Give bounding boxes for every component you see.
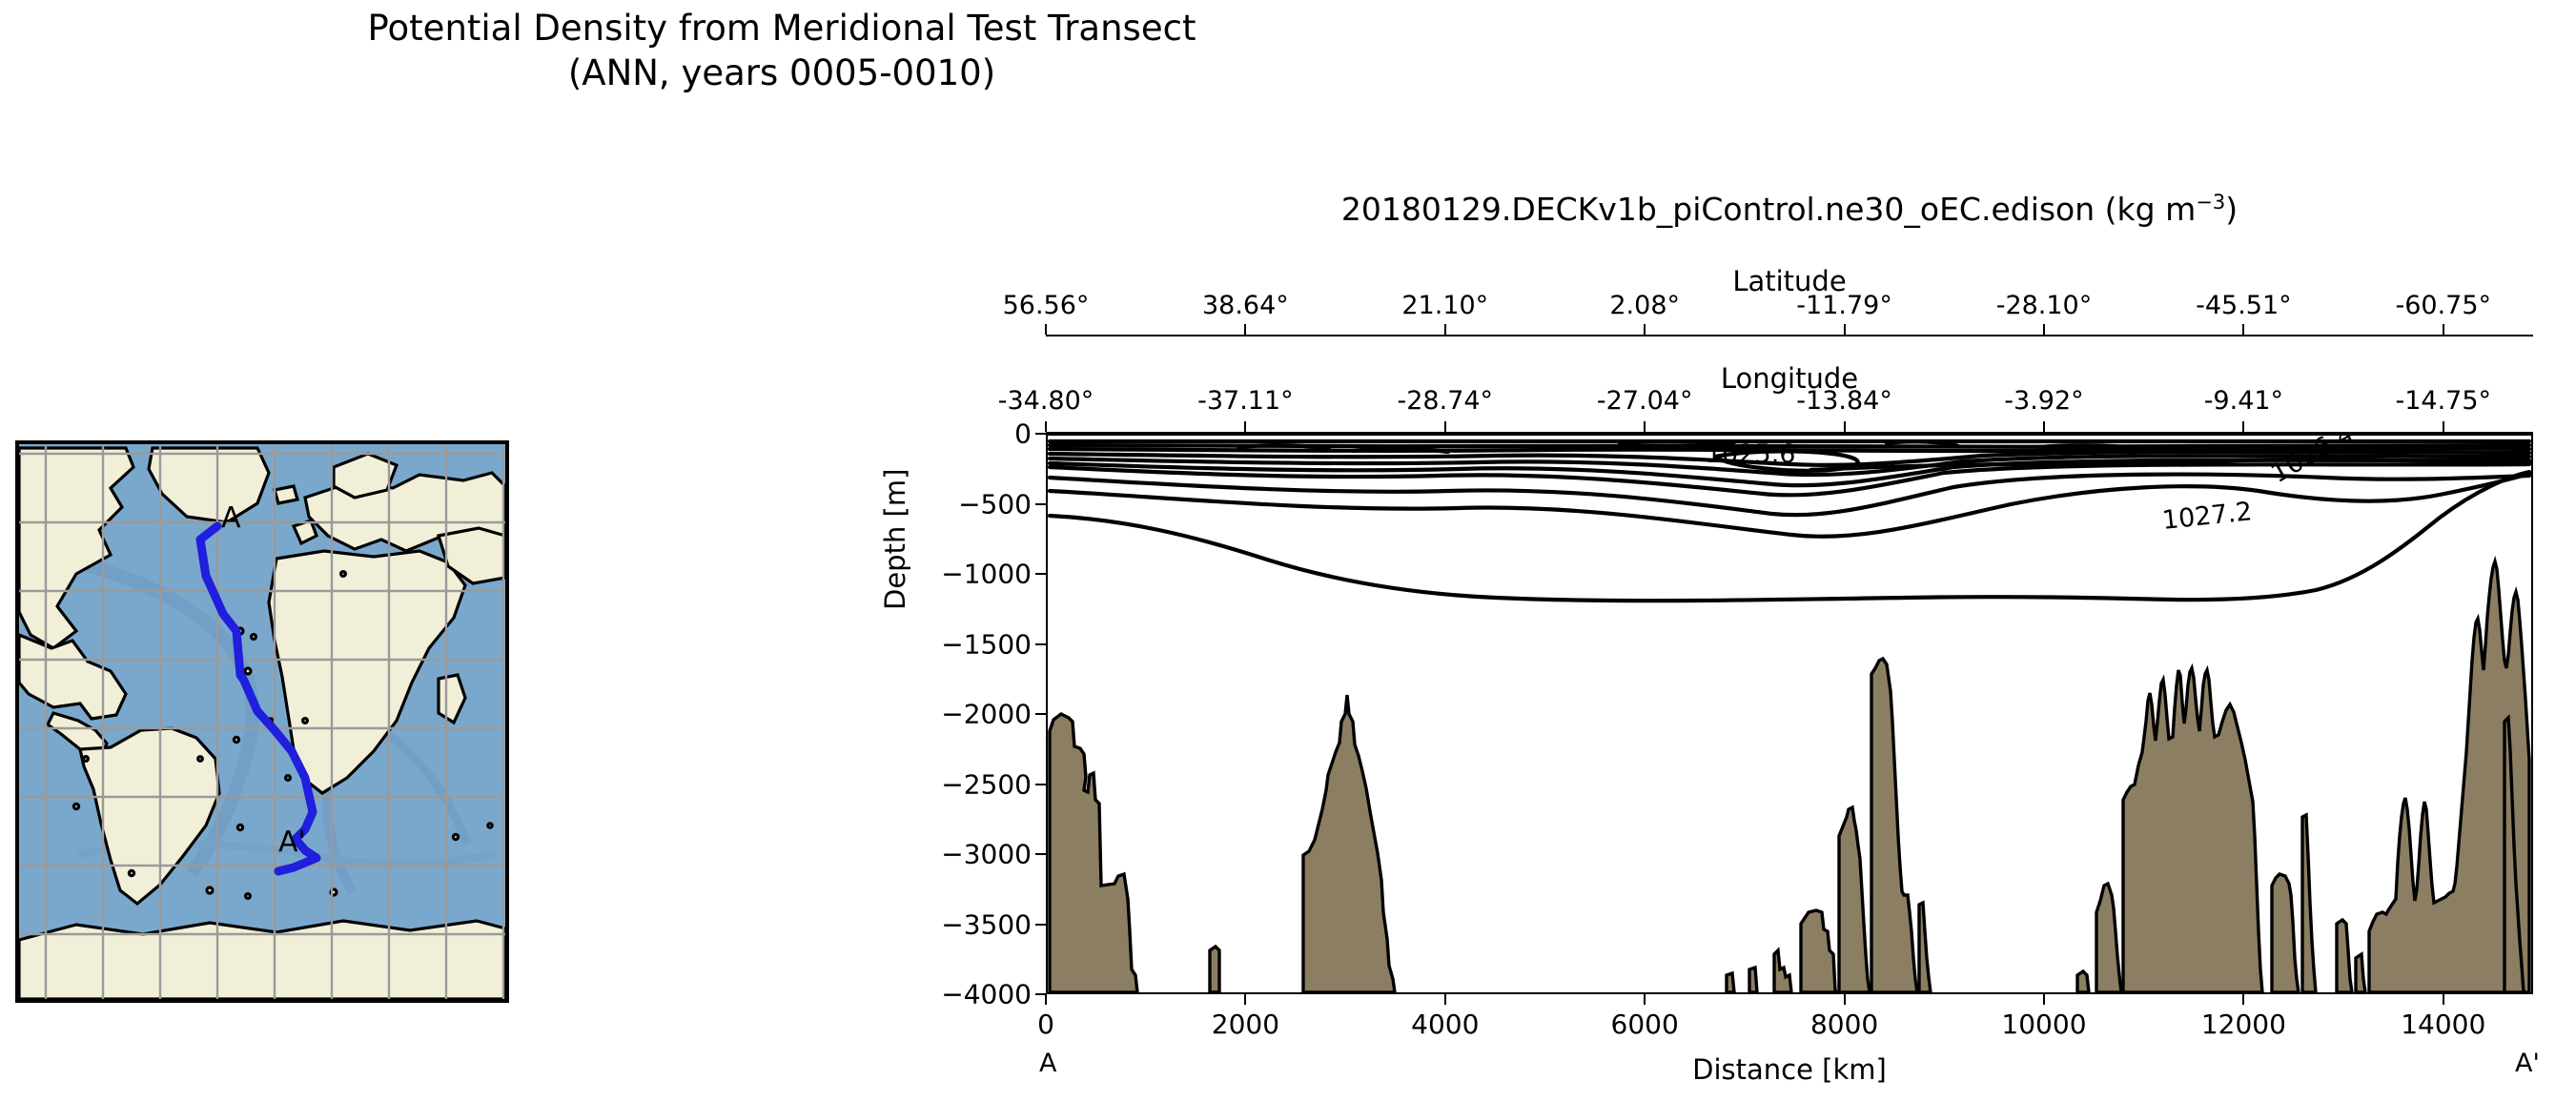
longitude-tick-label: -13.84° — [1796, 386, 1892, 416]
depth-tick-mark — [1035, 573, 1046, 575]
distance-tick-mark — [1244, 994, 1246, 1005]
depth-tick-mark — [1035, 713, 1046, 715]
latitude-tick-label: -60.75° — [2395, 291, 2491, 320]
map-start-label: A — [221, 501, 241, 535]
transect-svg: 1025.6 1026.4 1027.2 — [1048, 436, 2531, 992]
distance-tick-mark — [1045, 994, 1047, 1005]
depth-tick-label: −3000 — [903, 839, 1032, 870]
distance-tick-mark — [1444, 994, 1446, 1005]
x-axis-label: Distance [km] — [1046, 1053, 2533, 1086]
distance-tick-mark — [2443, 994, 2444, 1005]
latitude-tick-label: 21.10° — [1401, 291, 1488, 320]
longitude-tick-label: -37.11° — [1197, 386, 1294, 416]
latitude-tick-mark — [1444, 324, 1446, 335]
distance-tick-mark — [2043, 994, 2045, 1005]
longitude-tick-mark — [1444, 421, 1446, 432]
distance-tick-mark — [2242, 994, 2244, 1005]
longitude-tick-mark — [2242, 421, 2244, 432]
longitude-tick-label: -34.80° — [998, 386, 1094, 416]
depth-tick-label: 0 — [903, 418, 1032, 450]
distance-tick-label: 0 — [1037, 1009, 1054, 1040]
depth-tick-mark — [1035, 784, 1046, 785]
map-end-label: A' — [278, 826, 306, 859]
distance-tick-label: 6000 — [1611, 1009, 1679, 1040]
contour-label-1027-2: 1027.2 — [2160, 497, 2253, 536]
depth-tick-mark — [1035, 503, 1046, 505]
latitude-tick-mark — [1644, 324, 1646, 335]
depth-tick-mark — [1035, 853, 1046, 855]
distance-tick-label: 8000 — [1810, 1009, 1878, 1040]
depth-tick-label: −2000 — [903, 699, 1032, 730]
longitude-tick-label: -9.41° — [2204, 386, 2283, 416]
latitude-tick-mark — [2242, 324, 2244, 335]
latitude-tick-label: -11.79° — [1796, 291, 1892, 320]
depth-tick-label: −500 — [903, 488, 1032, 520]
latitude-tick-label: 38.64° — [1202, 291, 1289, 320]
longitude-tick-label: -28.74° — [1398, 386, 1494, 416]
distance-tick-label: 14000 — [2401, 1009, 2485, 1040]
longitude-tick-label: -14.75° — [2395, 386, 2491, 416]
distance-tick-label: 12000 — [2201, 1009, 2286, 1040]
longitude-tick-label: -27.04° — [1597, 386, 1693, 416]
transect-plot-area: 1025.6 1026.4 1027.2 — [1046, 434, 2533, 994]
transect-location-map: A A' — [15, 440, 509, 1003]
longitude-tick-mark — [1844, 421, 1846, 432]
depth-tick-label: −4000 — [903, 979, 1032, 1010]
latitude-tick-mark — [2443, 324, 2444, 335]
depth-tick-label: −1000 — [903, 559, 1032, 590]
distance-tick-mark — [1844, 994, 1846, 1005]
depth-tick-label: −2500 — [903, 768, 1032, 800]
y-axis-label: Depth [m] — [879, 469, 911, 610]
latitude-tick-label: 56.56° — [1003, 291, 1090, 320]
depth-tick-mark — [1035, 643, 1046, 645]
figure-suptitle: Potential Density from Meridional Test T… — [0, 6, 1564, 96]
latitude-axis-line — [1046, 335, 2533, 336]
depth-tick-label: −3500 — [903, 908, 1032, 940]
distance-tick-label: 2000 — [1212, 1009, 1279, 1040]
latitude-tick-mark — [1844, 324, 1846, 335]
bathymetry-profile — [1050, 561, 2529, 992]
longitude-tick-mark — [1244, 421, 1246, 432]
panel-title-paren: ) — [2225, 191, 2238, 228]
transect-endpoint-aprime: A' — [2515, 1049, 2540, 1078]
map-svg — [19, 444, 505, 999]
panel-title-exponent: −3 — [2196, 191, 2225, 214]
depth-tick-mark — [1035, 924, 1046, 926]
latitude-tick-mark — [2043, 324, 2045, 335]
panel-title-text: 20180129.DECKv1b_piControl.ne30_oEC.edis… — [1341, 191, 2196, 228]
contour-label-1026-4: 1026.4 — [2266, 436, 2359, 489]
panel-title: 20180129.DECKv1b_piControl.ne30_oEC.edis… — [1046, 191, 2533, 228]
latitude-tick-label: -28.10° — [1996, 291, 2093, 320]
latitude-tick-label: -45.51° — [2196, 291, 2292, 320]
longitude-tick-mark — [2443, 421, 2444, 432]
longitude-tick-label: -3.92° — [2004, 386, 2083, 416]
latitude-tick-label: 2.08° — [1609, 291, 1680, 320]
latitude-tick-mark — [1045, 324, 1047, 335]
latitude-tick-mark — [1244, 324, 1246, 335]
contour-label-1025-6: 1025.6 — [1706, 439, 1795, 469]
depth-tick-mark — [1035, 433, 1046, 435]
transect-endpoint-a: A — [1039, 1049, 1056, 1078]
depth-tick-label: −1500 — [903, 628, 1032, 660]
longitude-tick-mark — [1644, 421, 1646, 432]
distance-tick-label: 10000 — [2001, 1009, 2086, 1040]
longitude-tick-mark — [2043, 421, 2045, 432]
longitude-tick-mark — [1045, 421, 1047, 432]
distance-tick-label: 4000 — [1411, 1009, 1479, 1040]
distance-tick-mark — [1644, 994, 1646, 1005]
